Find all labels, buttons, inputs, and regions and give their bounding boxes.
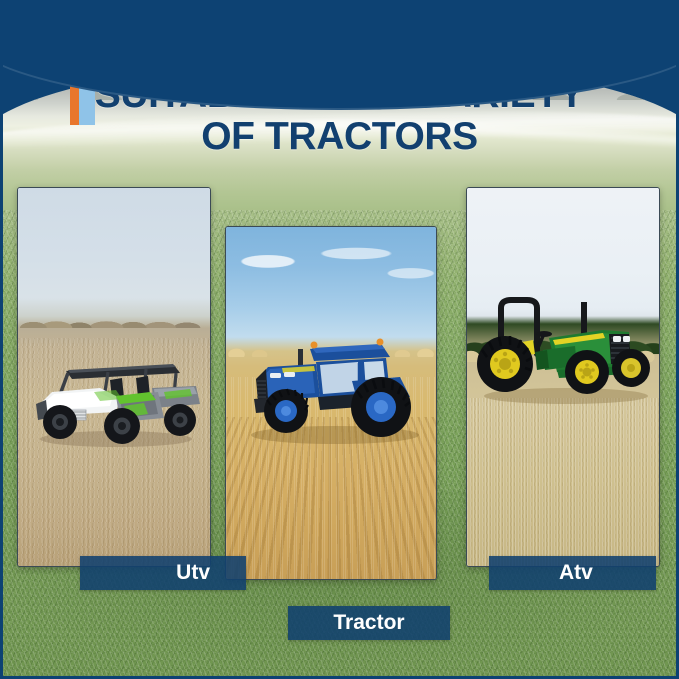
utv-photo (18, 188, 210, 566)
card-label-utv: Utv (80, 556, 246, 590)
tractor-photo (226, 227, 436, 579)
card-tractor[interactable] (225, 226, 437, 580)
card-label-utv-text: Utv (176, 561, 210, 585)
utv-photo-treeline (18, 306, 210, 328)
card-label-tractor: Tractor (288, 606, 450, 640)
atv-vehicle-illustration (471, 278, 657, 408)
card-atv[interactable] (466, 187, 660, 567)
card-utv[interactable] (17, 187, 211, 567)
tractor-vehicle-illustration (240, 319, 426, 449)
atv-photo (467, 188, 659, 566)
tractor-photo-clouds (226, 235, 436, 301)
card-label-atv: Atv (489, 556, 656, 590)
card-label-atv-text: Atv (559, 561, 593, 585)
utv-vehicle-illustration (24, 340, 206, 450)
atv-photo-field-texture (467, 398, 659, 566)
frame-left-edge (0, 0, 3, 679)
card-label-tractor-text: Tractor (333, 611, 404, 635)
promo-banner: SUITABLE FOR A VARIETY OF TRACTORS (0, 0, 679, 679)
heading-line-2: OF TRACTORS (0, 116, 679, 158)
